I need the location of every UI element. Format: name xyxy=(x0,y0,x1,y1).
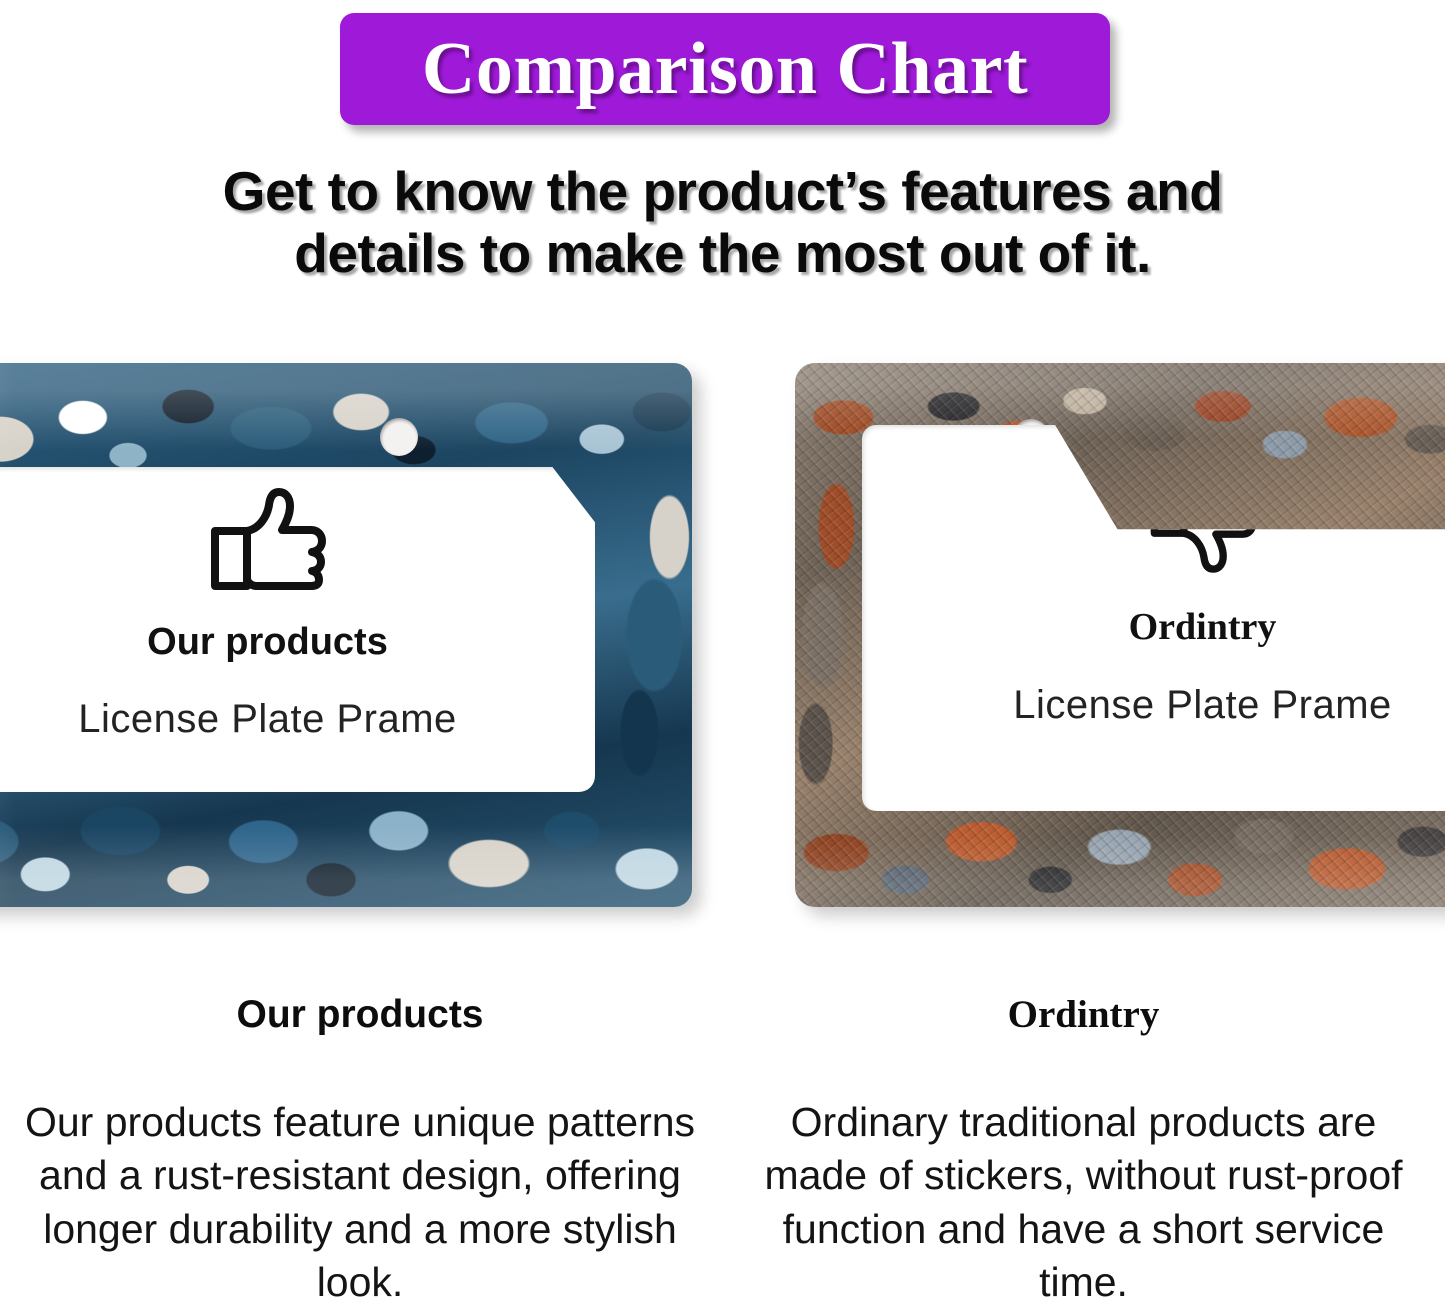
ordinary-products-description-column: Ordintry Ordinary traditional products a… xyxy=(722,995,1445,1309)
left-bottom-heading: Our products xyxy=(0,995,720,1034)
right-bottom-heading: Ordintry xyxy=(722,995,1445,1034)
mounting-hole xyxy=(380,418,418,456)
page-title: Comparison Chart xyxy=(422,32,1028,106)
our-product-license-plate-frame: Our products License Plate Prame xyxy=(0,363,692,907)
thumbs-up-icon xyxy=(207,485,329,595)
subtitle-line-1: Get to know the product’s features and xyxy=(0,160,1445,222)
left-bottom-body: Our products feature unique patterns and… xyxy=(0,1096,720,1309)
right-frame-subtitle: License Plate Prame xyxy=(1013,683,1392,728)
right-bottom-body: Ordinary traditional products are made o… xyxy=(722,1096,1445,1309)
left-frame-title: Our products xyxy=(147,621,388,664)
right-frame-title: Ordintry xyxy=(1129,605,1277,649)
page-subtitle: Get to know the product’s features and d… xyxy=(0,160,1445,284)
our-products-description-column: Our products Our products feature unique… xyxy=(0,995,720,1309)
comparison-chart-banner: Comparison Chart xyxy=(340,13,1110,125)
ordinary-product-license-plate-frame: Ordintry License Plate Prame xyxy=(795,363,1445,907)
plate-window-left: Our products License Plate Prame xyxy=(0,467,595,792)
left-frame-subtitle: License Plate Prame xyxy=(78,697,457,742)
subtitle-line-2: details to make the most out of it. xyxy=(0,222,1445,284)
